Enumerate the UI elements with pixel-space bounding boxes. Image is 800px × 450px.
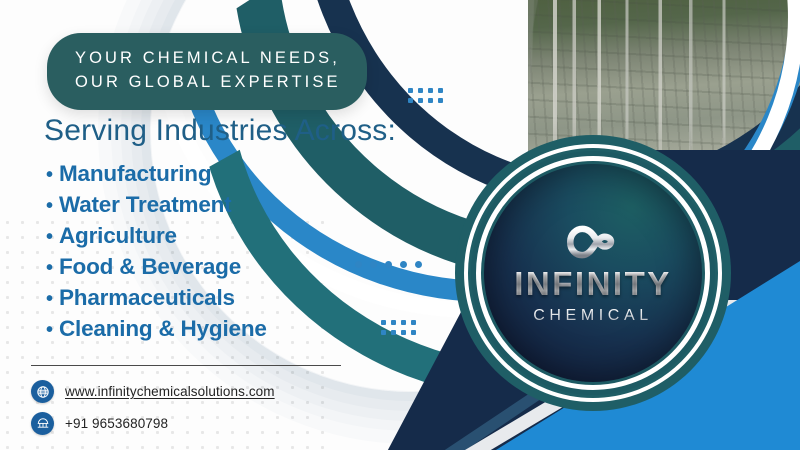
infinity-symbol-icon: [549, 221, 637, 263]
contact-phone[interactable]: +91 9653680798: [31, 412, 168, 435]
dot: [418, 88, 423, 93]
list-item: • Food & Beverage: [46, 256, 267, 279]
list-item-label: Cleaning & Hygiene: [59, 318, 267, 341]
dot: [355, 261, 362, 268]
dots-row-middle: [355, 261, 422, 268]
dot: [411, 330, 416, 335]
industry-list: • Manufacturing • Water Treatment • Agri…: [46, 163, 267, 349]
dot: [385, 261, 392, 268]
tagline-pill: YOUR CHEMICAL NEEDS, OUR GLOBAL EXPERTIS…: [47, 33, 367, 110]
globe-icon: [31, 380, 54, 403]
website-label[interactable]: www.infinitychemicalsolutions.com: [65, 384, 275, 399]
dot: [415, 261, 422, 268]
dot: [381, 320, 386, 325]
contact-website[interactable]: www.infinitychemicalsolutions.com: [31, 380, 275, 403]
page-title: Serving Industries Across:: [44, 114, 396, 148]
dot: [428, 98, 433, 103]
dot: [408, 98, 413, 103]
bullet-icon: •: [46, 227, 59, 247]
bullet-icon: •: [46, 165, 59, 185]
list-item: • Agriculture: [46, 225, 267, 248]
dot: [391, 320, 396, 325]
list-item: • Water Treatment: [46, 194, 267, 217]
list-item-label: Pharmaceuticals: [59, 287, 235, 310]
dot: [408, 88, 413, 93]
dot: [438, 98, 443, 103]
dots-grid-top: [408, 88, 443, 103]
bullet-icon: •: [46, 196, 59, 216]
dot: [400, 261, 407, 268]
dot: [401, 330, 406, 335]
badge-core: INFINITY CHEMICAL: [484, 164, 702, 382]
bullet-icon: •: [46, 289, 59, 309]
brand-name: INFINITY: [514, 267, 672, 300]
list-item: • Cleaning & Hygiene: [46, 318, 267, 341]
dot: [438, 88, 443, 93]
list-item-label: Food & Beverage: [59, 256, 241, 279]
dot: [370, 261, 377, 268]
dot: [391, 330, 396, 335]
bullet-icon: •: [46, 320, 59, 340]
dot: [411, 320, 416, 325]
dot: [381, 330, 386, 335]
list-item: • Manufacturing: [46, 163, 267, 186]
bullet-icon: •: [46, 258, 59, 278]
list-item: • Pharmaceuticals: [46, 287, 267, 310]
promo-banner: INFINITY CHEMICAL YOUR CHEMICAL NEEDS, O…: [0, 0, 800, 450]
phone-label[interactable]: +91 9653680798: [65, 416, 168, 431]
landmark-icon: [31, 412, 54, 435]
dot: [428, 88, 433, 93]
list-item-label: Water Treatment: [59, 194, 231, 217]
brand-subtitle: CHEMICAL: [533, 307, 652, 325]
dot: [418, 98, 423, 103]
dot: [401, 320, 406, 325]
logo-badge: INFINITY CHEMICAL: [455, 135, 731, 411]
dots-grid-bottom: [381, 320, 416, 335]
divider: [31, 365, 341, 366]
list-item-label: Manufacturing: [59, 163, 211, 186]
list-item-label: Agriculture: [59, 225, 177, 248]
